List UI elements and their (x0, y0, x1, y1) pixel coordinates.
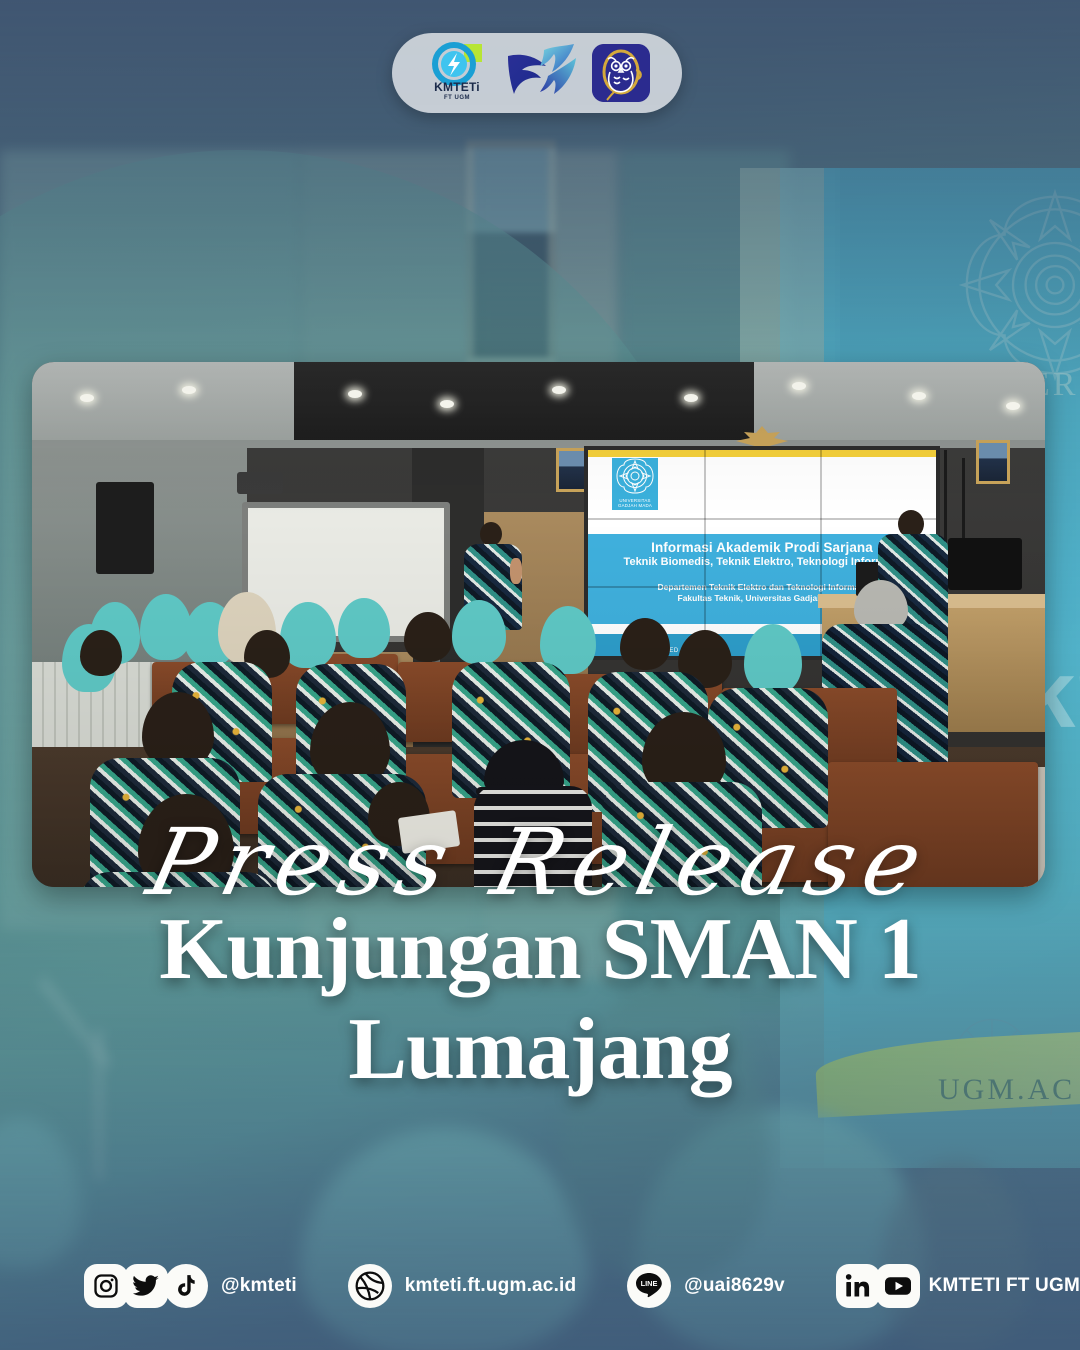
footer-group-channels: KMTETI FT UGM (836, 1264, 1080, 1308)
youtube-icon[interactable] (876, 1264, 920, 1308)
instagram-icon[interactable] (84, 1264, 128, 1308)
linkedin-icon[interactable] (836, 1264, 880, 1308)
footer-group-website: kmteti.ft.ugm.ac.id (348, 1264, 577, 1308)
footer-social-bar: @kmteti kmteti.ft.ugm.ac.id LINE (0, 1256, 1080, 1316)
twitter-icon[interactable] (124, 1264, 168, 1308)
dribbble-icon[interactable] (348, 1264, 392, 1308)
line-icon[interactable]: LINE (627, 1264, 671, 1308)
footer-group-social: @kmteti (84, 1264, 297, 1308)
footer-website-label: kmteti.ft.ugm.ac.id (405, 1275, 577, 1297)
header-logo-pill: KMTETi FT UGM (392, 33, 682, 113)
page-title: Kunjungan SMAN 1 Lumajang (0, 900, 1080, 1100)
footer-handle-social: @kmteti (221, 1275, 297, 1297)
footer-group-line: LINE @uai8629v (627, 1264, 785, 1308)
tiktok-icon[interactable] (164, 1264, 208, 1308)
script-title: Press Release (0, 815, 1080, 911)
bird-logo-icon (504, 42, 578, 104)
poster-canvas: UNIVERSIT MA km UGM.AC (0, 0, 1080, 1350)
footer-line-handle: @uai8629v (684, 1275, 785, 1297)
owl-logo-icon (592, 44, 650, 102)
svg-text:LINE: LINE (641, 1279, 658, 1288)
kmteti-logo-icon: KMTETi FT UGM (424, 42, 490, 104)
kmteti-logo-label: KMTETi FT UGM (424, 82, 490, 104)
footer-channel-label: KMTETI FT UGM (929, 1275, 1080, 1297)
